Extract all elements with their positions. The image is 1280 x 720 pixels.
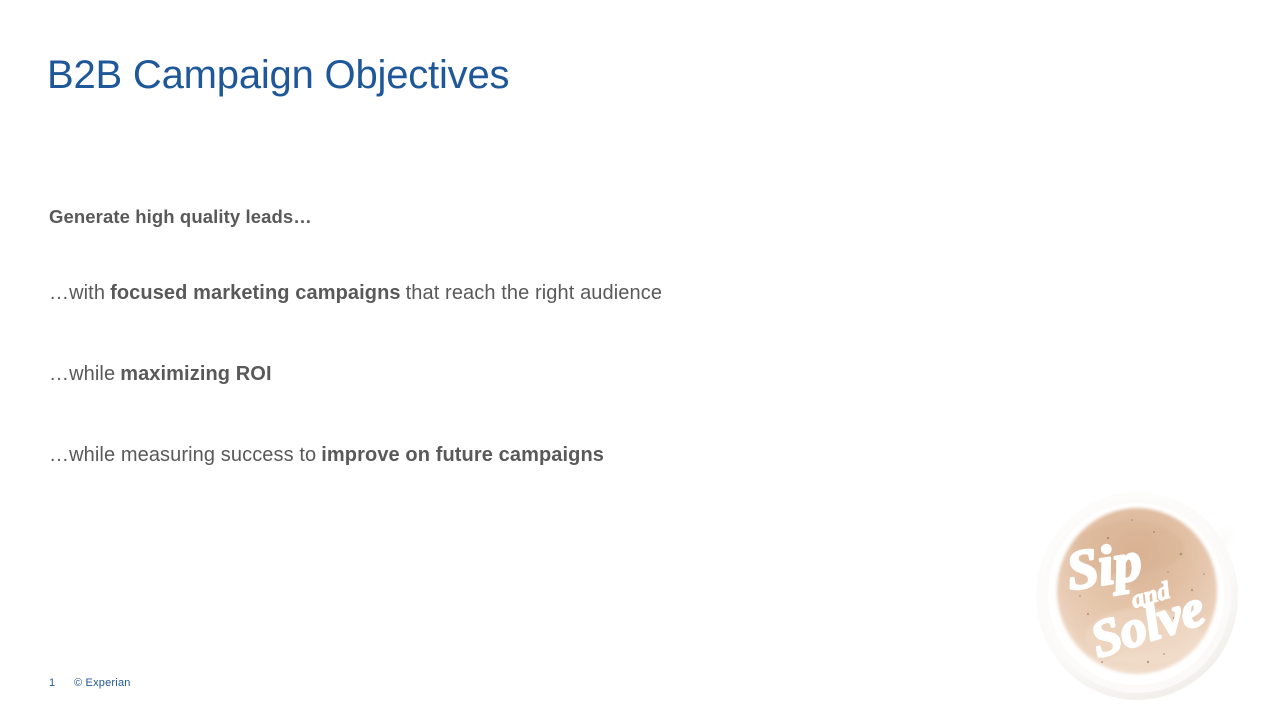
slide-canvas: B2B Campaign Objectives Generate high qu… [0,0,1280,720]
copyright-text: © Experian [74,677,131,689]
body-line-2-bold: maximizing ROI [120,363,271,385]
body-line-1-prefix: …with [49,282,105,304]
body-line-2: …whilemaximizing ROI [49,362,949,386]
body-content: Generate high quality leads… …withfocuse… [49,206,949,467]
page-title: B2B Campaign Objectives [47,52,509,98]
body-line-3: …while measuring success toimprove on fu… [49,443,949,467]
body-line-2-prefix: …while [49,363,115,385]
body-line-3-bold: improve on future campaigns [321,444,604,466]
sip-and-solve-logo: Sip and Solve [1036,486,1248,702]
body-line-1-suffix: that reach the right audience [406,282,662,304]
body-line-3-prefix: …while measuring success to [49,444,316,466]
body-lead-line: Generate high quality leads… [49,206,949,228]
body-line-1-bold: focused marketing campaigns [110,282,401,304]
body-line-1: …withfocused marketing campaignsthat rea… [49,281,949,305]
coffee-cup-icon: Sip and Solve [1036,486,1248,702]
slide-footer: 1 © Experian [49,677,131,689]
page-number: 1 [49,677,56,689]
